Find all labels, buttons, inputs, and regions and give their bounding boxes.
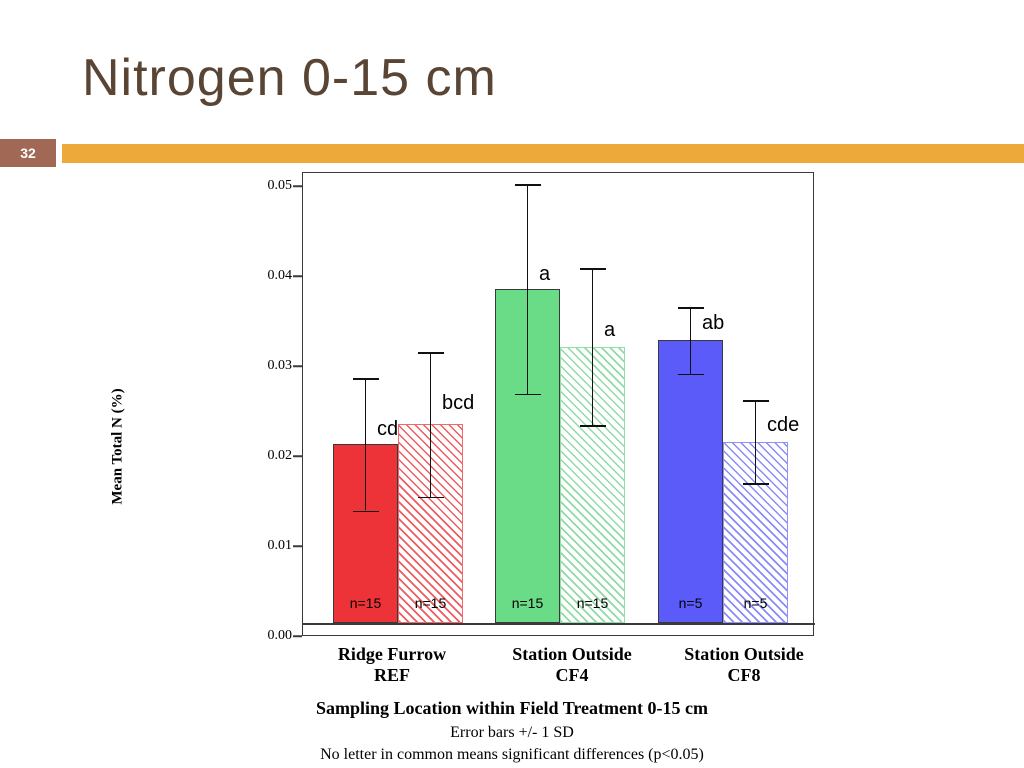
error-bar-cap-upper xyxy=(743,400,769,402)
error-bar-line xyxy=(527,184,529,393)
y-tick-label-0.02: 0.02 xyxy=(268,448,293,464)
error-bar-cap-lower xyxy=(515,394,541,396)
chart-caption-main: Sampling Location within Field Treatment… xyxy=(0,698,1024,719)
significance-letter: cde xyxy=(767,414,799,437)
y-tick-mark-0.04 xyxy=(293,275,302,277)
y-tick-mark-0.02 xyxy=(293,455,302,457)
header-accent-bar xyxy=(62,144,1024,163)
error-bar-cap-upper xyxy=(418,352,444,354)
chart-caption-significance: No letter in common means significant di… xyxy=(0,746,1024,764)
error-bar-line xyxy=(690,307,692,373)
error-bar-cap-lower xyxy=(418,497,444,499)
y-tick-label-0.04: 0.04 xyxy=(268,268,293,284)
error-bar-line xyxy=(430,352,432,497)
bar-station-cf8 xyxy=(658,340,723,623)
x-axis-group-ref: Ridge Furrow REF xyxy=(302,644,482,685)
x-axis-group-name-ref: REF xyxy=(302,665,482,686)
x-axis-pair-labels-cf4: Station Outside xyxy=(512,644,632,664)
y-tick-label-0.05: 0.05 xyxy=(268,178,293,194)
sample-size-label: n=15 xyxy=(333,595,398,611)
significance-letter: bcd xyxy=(442,392,474,415)
sample-size-label: n=5 xyxy=(658,595,723,611)
y-tick-mark-0.01 xyxy=(293,545,302,547)
error-bar-cap-upper xyxy=(353,378,379,380)
x-axis-group-cf4: Station Outside CF4 xyxy=(472,644,672,685)
error-bar-cap-lower xyxy=(353,511,379,513)
significance-letter: ab xyxy=(702,312,724,335)
x-axis-pair-labels-ref: Ridge Furrow xyxy=(338,644,446,664)
x-axis-group-name-cf4: CF4 xyxy=(472,665,672,686)
significance-letter: a xyxy=(604,319,615,342)
x-axis-baseline xyxy=(303,623,815,625)
error-bar-cap-lower xyxy=(678,374,704,376)
x-axis-group-name-cf8: CF8 xyxy=(644,665,844,686)
y-tick-mark-0.05 xyxy=(293,185,302,187)
page-title: Nitrogen 0-15 cm xyxy=(82,48,497,108)
y-axis-ticks: 0.05 0.04 0.03 0.02 0.01 0.00 xyxy=(230,168,302,636)
error-bar-cap-upper xyxy=(580,268,606,270)
slide-number-badge: 32 xyxy=(0,139,56,167)
y-axis-title: Mean Total N (%) xyxy=(110,317,127,577)
x-axis-pair-labels-cf8: Station Outside xyxy=(684,644,804,664)
y-tick-label-0.01: 0.01 xyxy=(268,538,293,554)
sample-size-label: n=15 xyxy=(495,595,560,611)
y-tick-label-0.03: 0.03 xyxy=(268,358,293,374)
sample-size-label: n=15 xyxy=(560,595,625,611)
chart-caption-errorbars: Error bars +/- 1 SD xyxy=(0,724,1024,742)
sample-size-label: n=15 xyxy=(398,595,463,611)
error-bar-line xyxy=(592,268,594,425)
error-bar-cap-upper xyxy=(678,307,704,309)
error-bar-cap-lower xyxy=(743,483,769,485)
error-bar-line xyxy=(755,400,757,484)
error-bar-line xyxy=(365,378,367,511)
significance-letter: cd xyxy=(377,418,398,441)
sample-size-label: n=5 xyxy=(723,595,788,611)
y-tick-label-0.00: 0.00 xyxy=(268,628,293,644)
y-tick-mark-0.03 xyxy=(293,365,302,367)
x-axis-group-cf8: Station Outside CF8 xyxy=(644,644,844,685)
plot-area: cdn=15bcdn=15an=15an=15abn=5cden=5 xyxy=(302,172,814,636)
error-bar-cap-lower xyxy=(580,425,606,427)
significance-letter: a xyxy=(539,263,550,286)
chart-container: Mean Total N (%) 0.05 0.04 0.03 0.02 0.0… xyxy=(0,168,1024,768)
y-tick-mark-0.00 xyxy=(293,635,302,637)
error-bar-cap-upper xyxy=(515,184,541,186)
